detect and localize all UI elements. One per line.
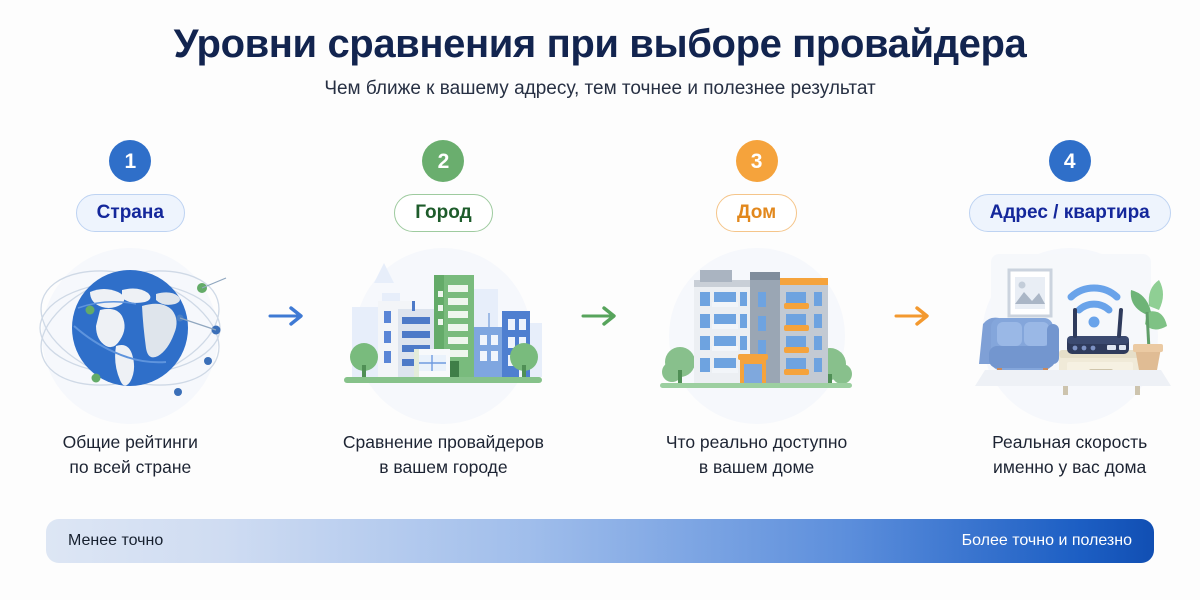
step-number-2: 2 — [438, 151, 450, 172]
scale-right-label: Более точно и полезно — [962, 532, 1132, 550]
step-number-3: 3 — [751, 151, 763, 172]
step-number-4: 4 — [1064, 151, 1076, 172]
step-caption-city: Сравнение провайдеров в вашем городе — [343, 430, 544, 480]
living-room-router-icon — [963, 252, 1177, 404]
arrow-right-icon — [581, 305, 619, 327]
caption-line-2b: в вашем городе — [343, 455, 544, 480]
arrow-step1-to-step2 — [261, 140, 314, 327]
caption-line-3a: Что реально доступно — [666, 430, 847, 455]
globe-icon — [30, 248, 230, 408]
step-badge-4: 4 — [1049, 140, 1091, 182]
step-badge-2: 2 — [422, 140, 464, 182]
caption-line-4b: именно у вас дома — [992, 455, 1147, 480]
step-address: 4 Адрес / квартира — [939, 140, 1200, 480]
precision-scale-bar: Менее точно Более точно и полезно — [46, 519, 1154, 563]
step-illustration-address — [954, 248, 1186, 408]
step-label-text-2: Город — [415, 202, 471, 223]
step-badge-3: 3 — [736, 140, 778, 182]
step-caption-country: Общие рейтинги по всей стране — [63, 430, 198, 480]
step-house: 3 Дом — [626, 140, 887, 480]
step-illustration-city — [327, 248, 559, 408]
step-caption-address: Реальная скорость именно у вас дома — [992, 430, 1147, 480]
step-label-pill-address: Адрес / квартира — [969, 194, 1171, 232]
step-label-text-1: Страна — [97, 202, 164, 223]
apartment-building-icon — [654, 252, 859, 404]
infographic-page: Уровни сравнения при выборе провайдера Ч… — [0, 0, 1200, 600]
arrow-step3-to-step4 — [887, 140, 940, 327]
arrow-right-icon — [268, 305, 306, 327]
caption-line-4a: Реальная скорость — [992, 430, 1147, 455]
step-number-1: 1 — [124, 151, 136, 172]
step-label-text-4: Адрес / квартира — [990, 202, 1150, 223]
arrow-right-icon — [894, 305, 932, 327]
caption-line-1b: по всей стране — [63, 455, 198, 480]
step-label-pill-country: Страна — [76, 194, 185, 232]
arrow-step2-to-step3 — [574, 140, 627, 327]
step-badge-1: 1 — [109, 140, 151, 182]
step-label-text-3: Дом — [737, 202, 776, 223]
caption-line-2a: Сравнение провайдеров — [343, 430, 544, 455]
caption-line-1a: Общие рейтинги — [63, 430, 198, 455]
page-subtitle: Чем ближе к вашему адресу, тем точнее и … — [0, 78, 1200, 100]
city-skyline-icon — [338, 253, 548, 403]
header: Уровни сравнения при выборе провайдера Ч… — [0, 0, 1200, 100]
step-country: 1 Страна — [0, 140, 261, 480]
step-illustration-house — [641, 248, 873, 408]
caption-line-3b: в вашем доме — [666, 455, 847, 480]
step-illustration-country — [14, 248, 246, 408]
step-city: 2 Город — [313, 140, 574, 480]
steps-row: 1 Страна — [0, 140, 1200, 500]
step-caption-house: Что реально доступно в вашем доме — [666, 430, 847, 480]
scale-left-label: Менее точно — [68, 532, 163, 550]
step-label-pill-city: Город — [394, 194, 492, 232]
page-title: Уровни сравнения при выборе провайдера — [0, 22, 1200, 67]
step-label-pill-house: Дом — [716, 194, 797, 232]
